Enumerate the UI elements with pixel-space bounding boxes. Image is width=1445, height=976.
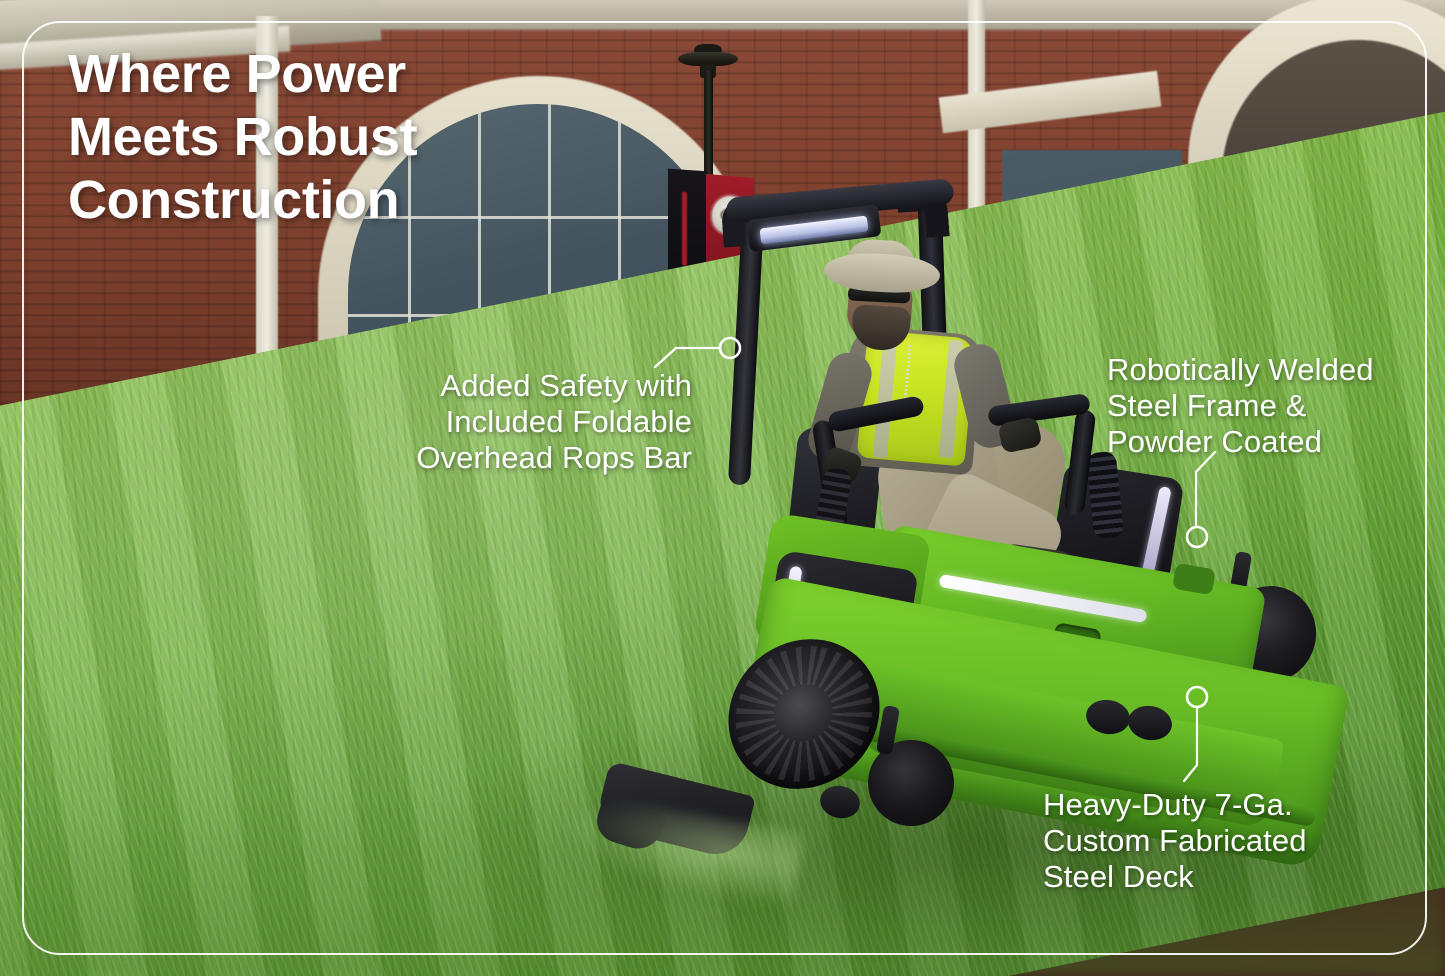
page-title: Where Power Meets Robust Construction [68,43,417,232]
callout-text-frame: Robotically Welded Steel Frame & Powder … [1107,352,1427,460]
hero-image: Where Power Meets Robust Construction Ad… [0,0,1445,976]
callout-text-rops: Added Safety with Included Foldable Over… [300,368,692,476]
rops-bar-left-post [728,215,764,486]
anti-scalp-roller-3 [817,782,863,822]
callout-text-deck: Heavy-Duty 7-Ga. Custom Fabricated Steel… [1043,787,1383,895]
